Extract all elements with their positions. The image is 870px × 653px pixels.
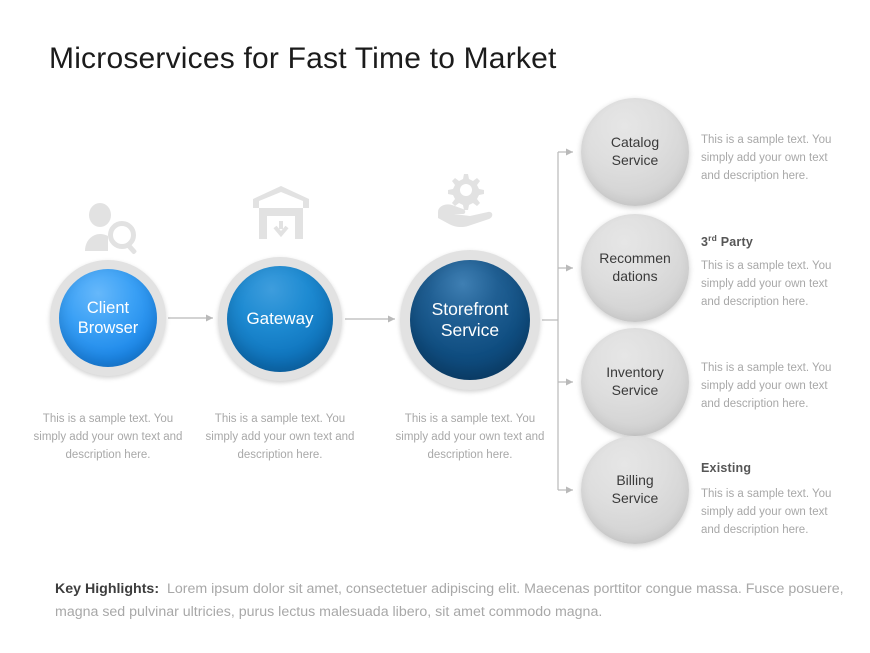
- flow-node-client-browser-label-line2: Browser: [78, 318, 139, 338]
- service-node-recommendations[interactable]: Recommen dations: [581, 214, 689, 322]
- service-node-catalog-service-line1: Catalog: [611, 134, 659, 152]
- service-node-inventory-service-line2: Service: [606, 382, 664, 400]
- service-node-recommendations-line2: dations: [599, 268, 671, 286]
- service-node-billing-service-line2: Service: [612, 490, 659, 508]
- flow-node-storefront-service-body: Storefront Service: [410, 260, 530, 380]
- flow-node-gateway-body: Gateway: [227, 266, 333, 372]
- service-node-billing-service[interactable]: Billing Service: [581, 436, 689, 544]
- service-node-catalog-service[interactable]: Catalog Service: [581, 98, 689, 206]
- service-description-catalog-service: This is a sample text. You simply add yo…: [701, 131, 833, 185]
- service-description-recommendations: This is a sample text. You simply add yo…: [701, 257, 833, 311]
- flow-node-storefront-service[interactable]: Storefront Service: [400, 250, 540, 390]
- caption-gateway: This is a sample text. You simply add yo…: [203, 411, 357, 464]
- caption-storefront-service: This is a sample text. You simply add yo…: [393, 411, 547, 464]
- flow-node-client-browser-body: Client Browser: [59, 269, 157, 367]
- service-node-inventory-service-line1: Inventory: [606, 364, 664, 382]
- warehouse-download-icon: [251, 183, 311, 241]
- flow-node-storefront-service-label-line2: Service: [432, 320, 509, 341]
- service-node-recommendations-line1: Recommen: [599, 250, 671, 268]
- flow-node-gateway-label-line1: Gateway: [246, 309, 313, 330]
- key-highlights-label: Key Highlights:: [55, 581, 159, 597]
- flow-node-storefront-service-label-line1: Storefront: [432, 299, 509, 320]
- page-title: Microservices for Fast Time to Market: [49, 42, 557, 76]
- service-heading-3rd-party: 3rd Party: [701, 233, 753, 249]
- service-node-billing-service-line1: Billing: [612, 472, 659, 490]
- service-node-inventory-service[interactable]: Inventory Service: [581, 328, 689, 436]
- key-highlights-text: Lorem ipsum dolor sit amet, consectetuer…: [55, 581, 844, 620]
- service-description-inventory-service: This is a sample text. You simply add yo…: [701, 359, 833, 413]
- user-search-icon: [79, 203, 141, 255]
- caption-client-browser: This is a sample text. You simply add yo…: [31, 411, 185, 464]
- hand-gear-icon: [430, 170, 498, 230]
- flow-node-client-browser[interactable]: Client Browser: [50, 260, 166, 376]
- service-heading-3rd-party-rest: Party: [717, 235, 753, 249]
- flow-node-gateway[interactable]: Gateway: [218, 257, 342, 381]
- slide-canvas: Microservices for Fast Time to Market: [0, 0, 870, 653]
- key-highlights-footer: Key Highlights: Lorem ipsum dolor sit am…: [55, 578, 845, 624]
- service-heading-3rd-party-sup: rd: [708, 233, 717, 243]
- service-heading-existing: Existing: [701, 461, 751, 475]
- service-node-catalog-service-line2: Service: [611, 152, 659, 170]
- flow-node-client-browser-label-line1: Client: [78, 298, 139, 318]
- service-description-billing-service: This is a sample text. You simply add yo…: [701, 485, 833, 539]
